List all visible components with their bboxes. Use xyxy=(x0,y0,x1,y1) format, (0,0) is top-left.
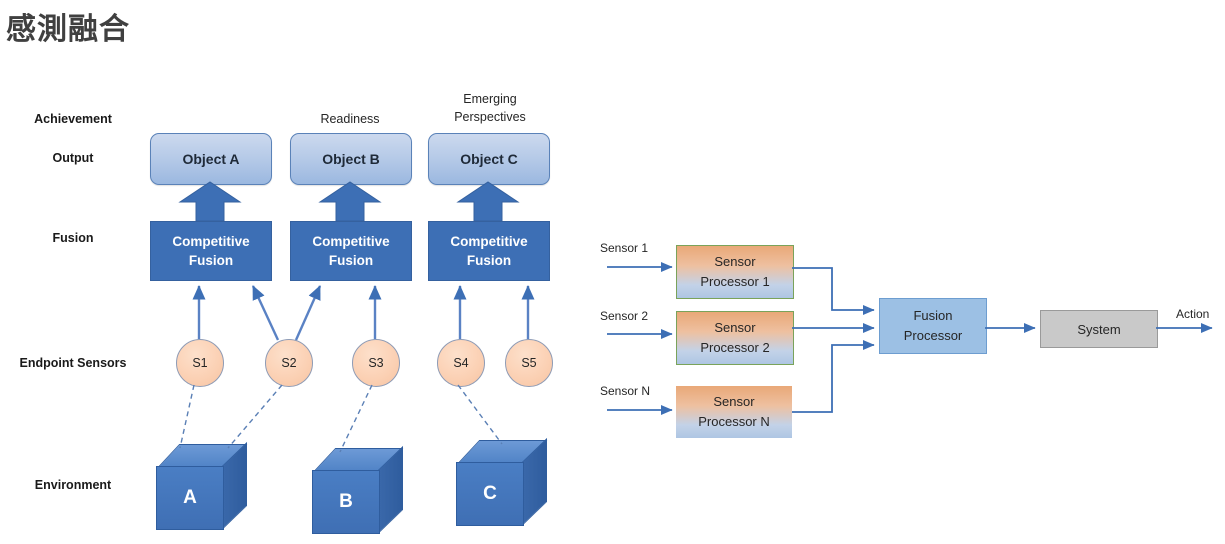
environment-cube-a[interactable]: A xyxy=(156,444,248,530)
edge-s2-to-fusion-a xyxy=(253,286,278,340)
system-box[interactable]: System xyxy=(1040,310,1158,348)
sensor-node-s1[interactable]: S1 xyxy=(176,339,224,387)
sensor-node-s3[interactable]: S3 xyxy=(352,339,400,387)
row-label-output: Output xyxy=(8,151,138,165)
row-label-fusion: Fusion xyxy=(8,231,138,245)
edge-processor-1-to-fusion-processor xyxy=(792,268,874,310)
sensor-input-label-n: Sensor N xyxy=(600,384,650,398)
block-arrow-fusion-a-to-object-a xyxy=(180,182,240,221)
sensor-processor-box-2[interactable]: Sensor Processor 2 xyxy=(676,311,794,365)
sensor-processor-box-n[interactable]: Sensor Processor N xyxy=(676,386,792,438)
sensor-node-s2[interactable]: S2 xyxy=(265,339,313,387)
block-arrow-fusion-c-to-object-c xyxy=(458,182,518,221)
achievement-label-emerging-perspectives: Emerging Perspectives xyxy=(428,90,552,126)
page-title: 感測融合 xyxy=(6,4,130,48)
edge-s1-to-cube-a xyxy=(180,385,194,448)
block-arrow-fusion-b-to-object-b xyxy=(320,182,380,221)
achievement-label-line2: Perspectives xyxy=(428,108,552,126)
sensor-processor-box-1[interactable]: Sensor Processor 1 xyxy=(676,245,794,299)
fusion-box-b-line2: Fusion xyxy=(329,251,373,270)
fusion-box-a-line2: Fusion xyxy=(189,251,233,270)
sensor-processor-1-line1: Sensor xyxy=(714,252,755,272)
sensor-processor-2-line1: Sensor xyxy=(714,318,755,338)
action-output-label: Action xyxy=(1176,307,1209,321)
sensor-node-s5[interactable]: S5 xyxy=(505,339,553,387)
edge-processor-n-to-fusion-processor xyxy=(792,345,874,412)
sensor-processor-n-line2: Processor N xyxy=(698,412,770,432)
environment-cube-c[interactable]: C xyxy=(456,440,548,526)
cube-b-front-face: B xyxy=(312,470,380,534)
cube-a-front-face: A xyxy=(156,466,224,530)
edge-s2-to-cube-a xyxy=(228,385,282,448)
sensor-processor-n-line1: Sensor xyxy=(713,392,754,412)
cube-c-front-face: C xyxy=(456,462,524,526)
fusion-processor-line1: Fusion xyxy=(913,306,952,326)
sensor-input-label-2: Sensor 2 xyxy=(600,309,648,323)
fusion-processor-line2: Processor xyxy=(904,326,963,346)
object-box-a[interactable]: Object A xyxy=(150,133,272,185)
fusion-box-a[interactable]: Competitive Fusion xyxy=(150,221,272,281)
environment-cube-b[interactable]: B xyxy=(312,448,404,534)
row-label-environment: Environment xyxy=(8,478,138,492)
object-box-c[interactable]: Object C xyxy=(428,133,550,185)
edge-s2-to-fusion-b xyxy=(296,286,320,340)
fusion-box-c-line2: Fusion xyxy=(467,251,511,270)
fusion-box-c-line1: Competitive xyxy=(450,232,527,251)
sensor-node-s4[interactable]: S4 xyxy=(437,339,485,387)
object-box-b[interactable]: Object B xyxy=(290,133,412,185)
fusion-box-a-line1: Competitive xyxy=(172,232,249,251)
edge-s4-to-cube-c xyxy=(458,385,502,444)
fusion-box-c[interactable]: Competitive Fusion xyxy=(428,221,550,281)
fusion-processor-box[interactable]: Fusion Processor xyxy=(879,298,987,354)
diagram-canvas: 感測融合 Achievement Output Fusion Endpoint … xyxy=(0,0,1225,544)
row-label-endpoint-sensors: Endpoint Sensors xyxy=(0,356,146,370)
sensor-processor-1-line2: Processor 1 xyxy=(700,272,769,292)
achievement-label-line1: Emerging xyxy=(428,90,552,108)
edge-s3-to-cube-b xyxy=(340,385,372,452)
row-label-achievement: Achievement xyxy=(8,112,138,126)
fusion-box-b[interactable]: Competitive Fusion xyxy=(290,221,412,281)
achievement-label-readiness: Readiness xyxy=(290,110,410,128)
sensor-processor-2-line2: Processor 2 xyxy=(700,338,769,358)
sensor-input-label-1: Sensor 1 xyxy=(600,241,648,255)
fusion-box-b-line1: Competitive xyxy=(312,232,389,251)
